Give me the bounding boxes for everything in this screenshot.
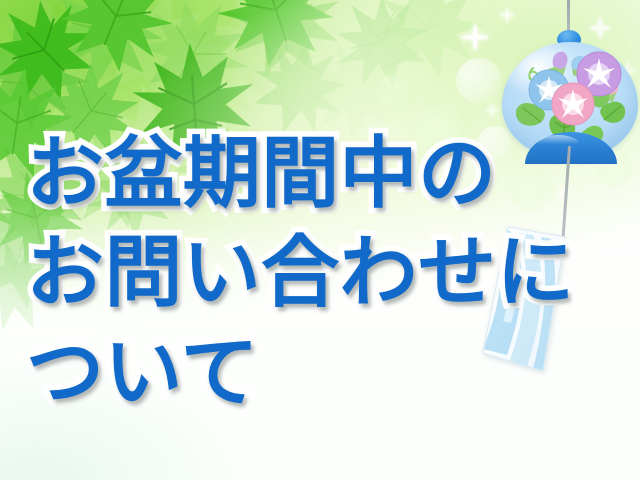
headline-line-3: ついて: [26, 330, 626, 417]
headline-line-1: お盆期間中の: [26, 131, 626, 218]
obon-banner: お盆期間中の お問い合わせに ついて: [0, 0, 640, 480]
headline-line-2: お問い合わせに: [26, 230, 626, 317]
bokeh-circle: [376, 74, 416, 114]
page-title: お盆期間中の お問い合わせに ついて: [26, 131, 626, 417]
bokeh-circle: [456, 58, 502, 104]
sparkle-star: [462, 24, 488, 50]
